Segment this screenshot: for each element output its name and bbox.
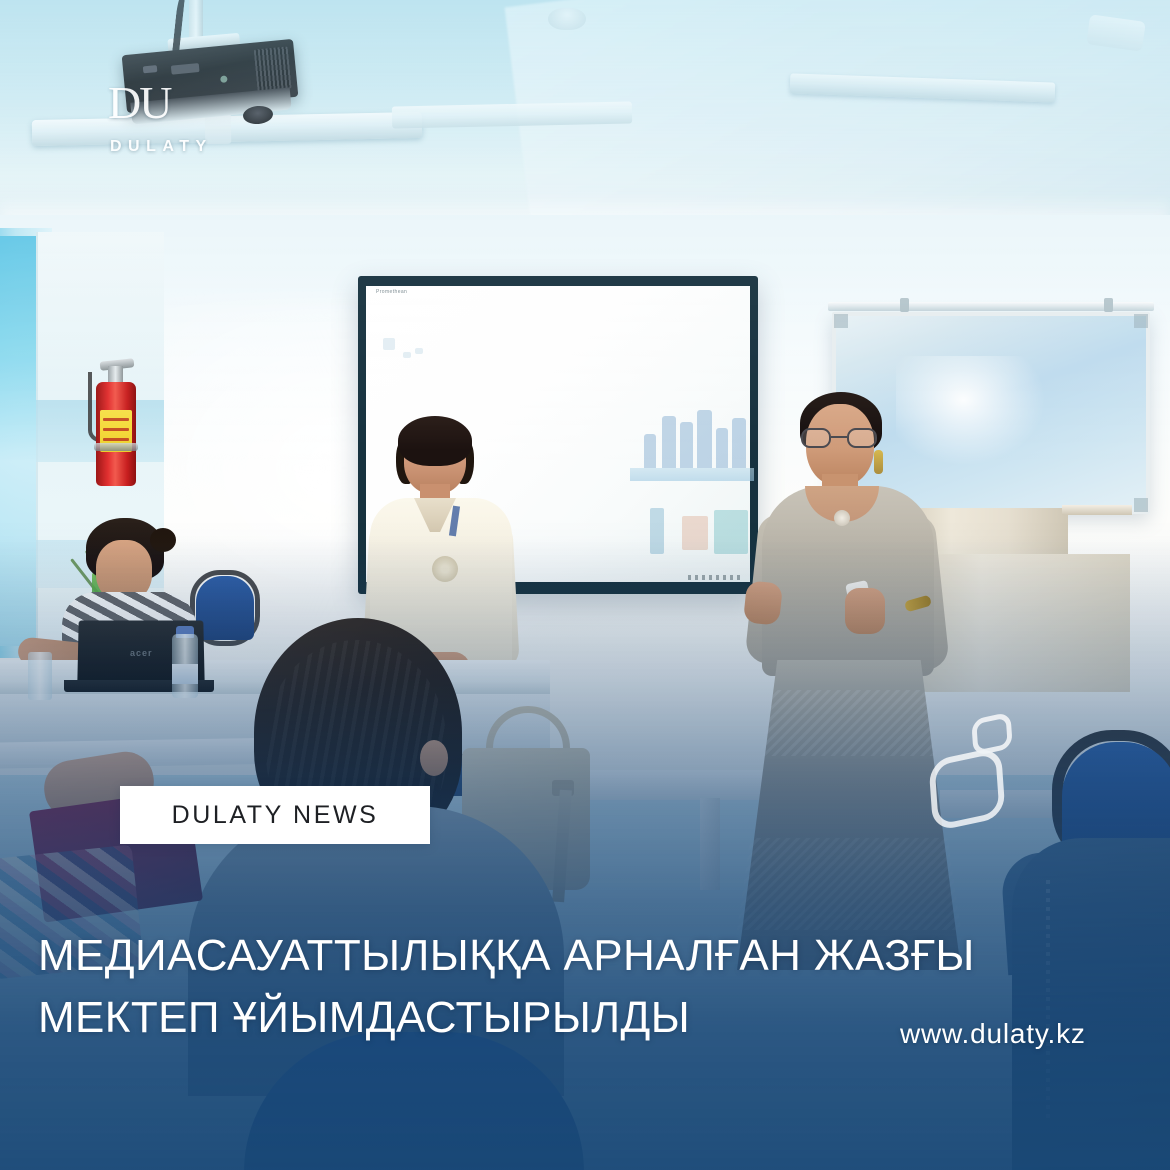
drinking-glass-icon: [28, 652, 52, 700]
whiteboard-glare: [896, 356, 1046, 466]
speaker-two-necklace: [834, 510, 850, 526]
dulaty-monogram-icon: DU: [108, 76, 216, 134]
headline-line-2: МЕКТЕП ҰЙЫМДАСТЫРЫЛДЫ: [38, 987, 1048, 1049]
door-glass: [0, 236, 36, 646]
news-badge: DULATY NEWS: [120, 786, 430, 844]
speaker-two-lace-band-lower: [737, 838, 961, 930]
website-url: www.dulaty.kz: [900, 1018, 1086, 1050]
whiteboard-corner: [834, 314, 848, 328]
blue-chair: [196, 576, 254, 640]
slide-image-top: [640, 388, 754, 468]
attendee-one-hair-bun: [150, 528, 176, 552]
projector-vents: [254, 46, 292, 91]
whiteboard-clip: [900, 298, 909, 312]
whiteboard-brand-label: Promethean: [376, 289, 407, 295]
dulaty-wordmark: DULATY: [110, 138, 213, 156]
slide-image-baseline: [630, 468, 754, 481]
news-badge-label: DULATY NEWS: [136, 801, 415, 830]
smoke-detector-icon: [548, 8, 586, 30]
laptop-brand-label: acer: [130, 648, 153, 658]
headline: МЕДИАСАУАТТЫЛЫҚҚА АРНАЛҒАН ЖАЗҒЫ МЕКТЕП …: [38, 925, 1048, 1049]
projector-port-secondary: [143, 65, 158, 73]
speaker-one-brooch: [432, 556, 458, 582]
projector-port: [171, 63, 200, 75]
eyeglasses-icon: [801, 428, 879, 448]
watermark-small-shape: [971, 712, 1013, 757]
podium-cabinet-lower: [918, 554, 1130, 692]
speaker-two-hand-right: [845, 588, 885, 634]
cabinet-lip: [1062, 505, 1132, 515]
whiteboard-corner: [1134, 498, 1148, 512]
speaker-two-lace-band: [748, 690, 950, 756]
speaker-one-hair: [398, 416, 472, 466]
whiteboard-clip-right: [1104, 298, 1113, 312]
attendee-two-ear: [420, 740, 448, 776]
slide-image-bottom: [648, 500, 752, 562]
headline-line-1: МЕДИАСАУАТТЫЛЫҚҚА АРНАЛҒАН ЖАЗҒЫ: [38, 925, 1048, 987]
bottle-label: [172, 664, 198, 684]
speaker-two-earring: [874, 450, 883, 474]
slide-ghost-content: [383, 338, 425, 364]
whiteboard-corner: [1134, 314, 1148, 328]
extinguisher-bracket: [94, 443, 138, 451]
desk-right-leg: [700, 798, 720, 890]
watermark-large-shape: [928, 746, 1005, 832]
whiteboard-pen-tray: [688, 575, 744, 580]
dulaty-logo: DU DULATY: [108, 76, 228, 168]
speaker-two-hand-left: [743, 580, 783, 626]
news-card: Promethean: [0, 0, 1170, 1170]
dulaty-abstract-mark-icon: [930, 716, 1028, 824]
